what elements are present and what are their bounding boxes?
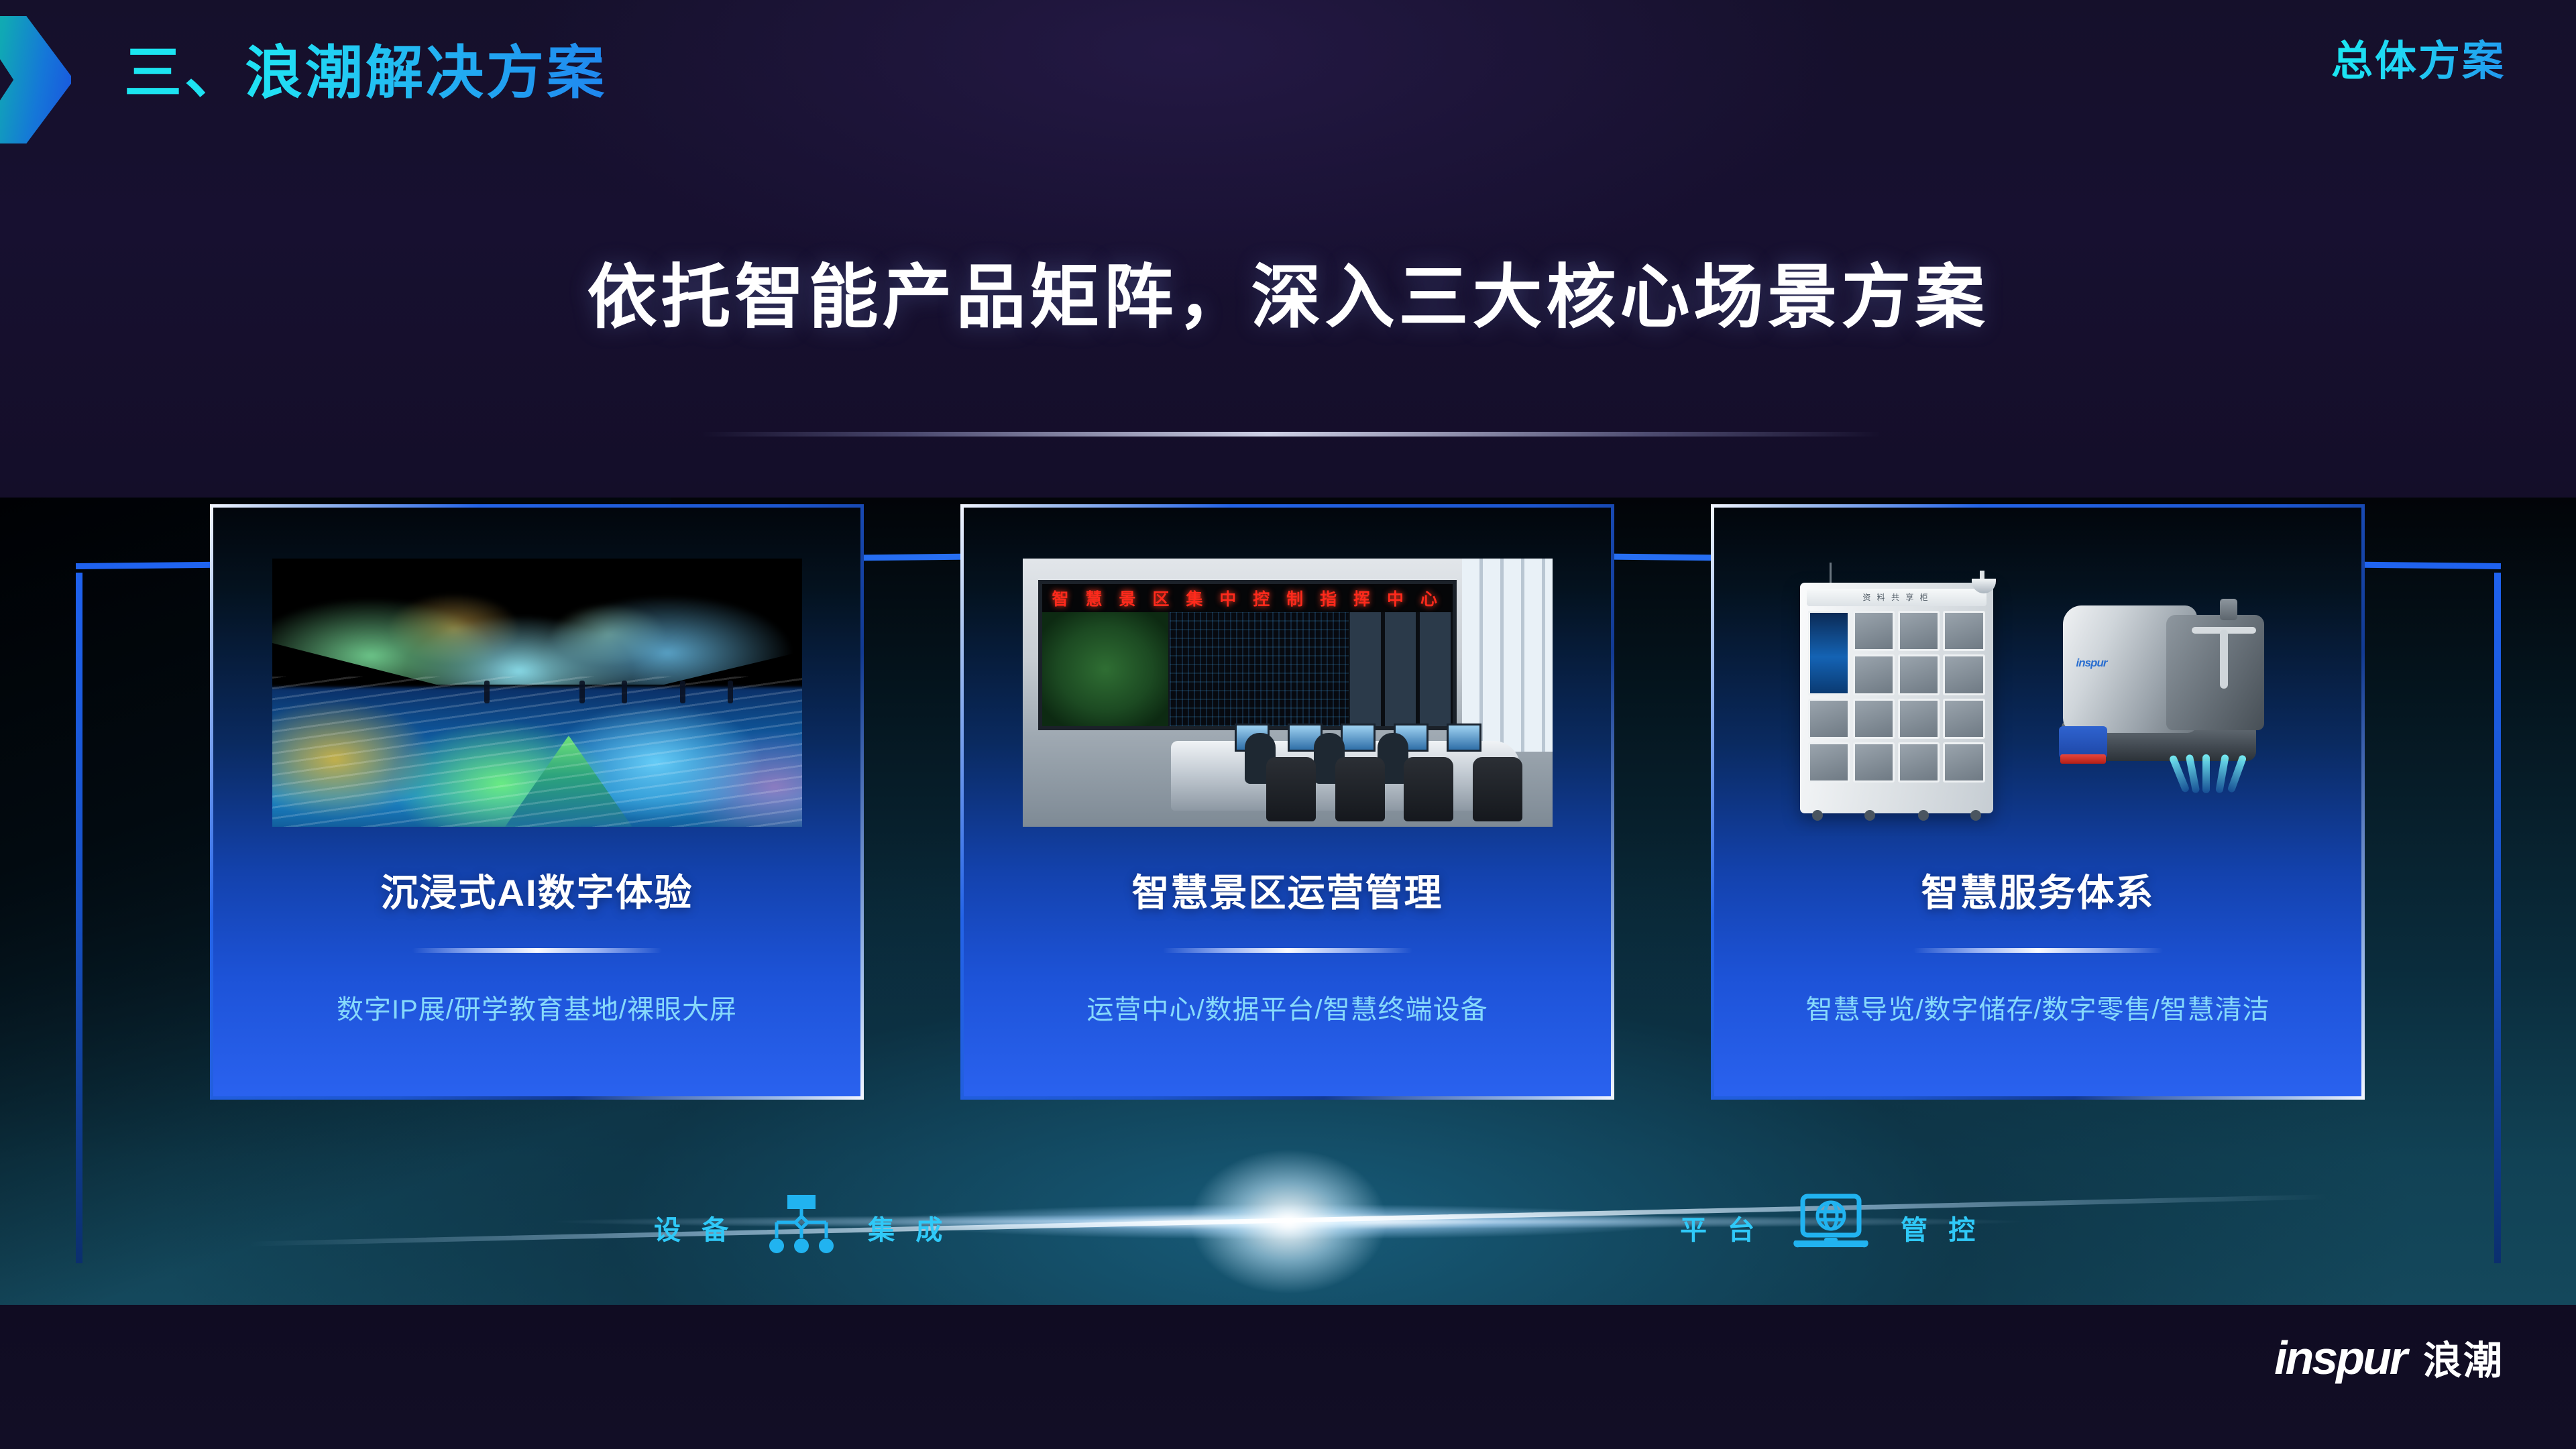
frame-left-edge (76, 573, 82, 1263)
section-title: 三、浪潮解决方案 (124, 25, 607, 109)
scenario-card-smart-service[interactable]: 资 料 共 享 柜 (1711, 504, 2365, 1100)
caption-prefix: 平 台 (1680, 1208, 1761, 1247)
card-divider (412, 948, 662, 953)
card-title: 智慧服务体系 (1714, 863, 2361, 917)
inspur-logo: inspur 浪潮 (2274, 1329, 2504, 1385)
card-divider (1913, 948, 2163, 953)
card-inner: 资 料 共 享 柜 (1714, 508, 2361, 1096)
immersive-ai-projection-hall-photo (272, 559, 802, 827)
smart-scenic-control-center-photo: 智 慧 景 区 集 中 控 制 指 挥 中 心 (1023, 559, 1553, 827)
caption-platform-control: 平 台 管 控 (1680, 1194, 1982, 1262)
locker-label: 资 料 共 享 柜 (1807, 589, 1986, 606)
background-bottom (0, 1305, 2576, 1449)
network-hierarchy-icon (765, 1194, 838, 1262)
heading-divider (702, 432, 1881, 437)
card-title: 沉浸式AI数字体验 (213, 863, 860, 917)
smart-locker-cabinet: 资 料 共 享 柜 (1800, 583, 1993, 813)
logo-en-text: inspur (2274, 1331, 2406, 1385)
led-banner-text: 智 慧 景 区 集 中 控 制 指 挥 中 心 (1042, 584, 1453, 612)
cleaning-robot: inspur (2051, 595, 2272, 796)
scenario-card-scenic-operations[interactable]: 智 慧 景 区 集 中 控 制 指 挥 中 心 (960, 504, 1614, 1100)
caption-prefix: 设 备 (654, 1208, 735, 1247)
card-subtitle: 运营中心/数据平台/智慧终端设备 (964, 988, 1611, 1027)
card-subtitle: 数字IP展/研学教育基地/裸眼大屏 (213, 988, 860, 1027)
caption-suffix: 集 成 (868, 1208, 949, 1247)
section-badge: 总体方案 (2331, 27, 2506, 87)
smart-locker-and-cleaning-robot-photo: 资 料 共 享 柜 (1773, 548, 2303, 836)
card-subtitle: 智慧导览/数字储存/数字零售/智慧清洁 (1714, 988, 2361, 1027)
card-title: 智慧景区运营管理 (964, 863, 1611, 917)
security-camera-icon (1969, 571, 2000, 593)
frame-right-edge (2494, 573, 2501, 1263)
robot-brand-label: inspur (2076, 656, 2200, 670)
slide-root: 三、浪潮解决方案 总体方案 依托智能产品矩阵，深入三大核心场景方案 (0, 0, 2576, 1449)
caption-device-integration: 设 备 集 成 (654, 1194, 949, 1262)
card-divider (1163, 948, 1412, 953)
page-title: 依托智能产品矩阵，深入三大核心场景方案 (0, 240, 2576, 341)
laptop-globe-icon (1791, 1194, 1871, 1262)
scenario-card-immersive-ai[interactable]: 沉浸式AI数字体验 数字IP展/研学教育基地/裸眼大屏 (210, 504, 864, 1100)
caption-suffix: 管 控 (1901, 1208, 1982, 1247)
card-inner: 智 慧 景 区 集 中 控 制 指 挥 中 心 (964, 508, 1611, 1096)
logo-cn-text: 浪潮 (2423, 1329, 2504, 1385)
card-inner: 沉浸式AI数字体验 数字IP展/研学教育基地/裸眼大屏 (213, 508, 860, 1096)
